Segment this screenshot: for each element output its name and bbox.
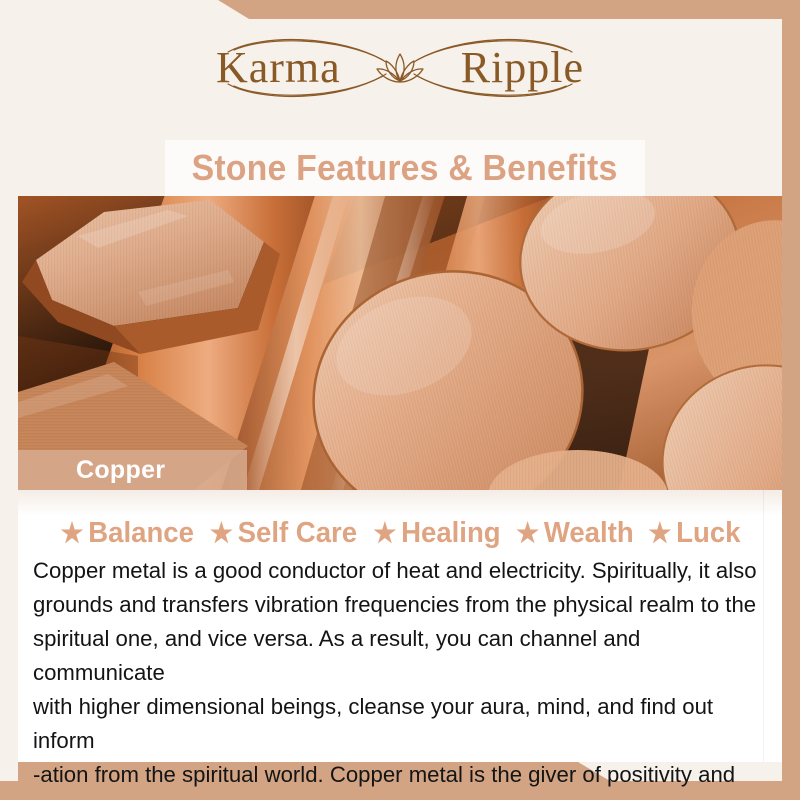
description-line: grounds and transfers vibration frequenc… xyxy=(33,588,762,622)
benefit-item-healing: ★Healing xyxy=(374,519,501,548)
page-title: Stone Features & Benefits xyxy=(192,147,618,189)
description-line: -ation from the spiritual world. Copper … xyxy=(33,758,762,800)
star-icon: ★ xyxy=(210,520,233,547)
description-line: spiritual one, and vice versa. As a resu… xyxy=(33,622,762,690)
copper-bars-image xyxy=(18,196,782,490)
benefit-item-balance: ★Balance xyxy=(60,519,193,548)
brand-name-left: Karma xyxy=(216,46,341,90)
star-icon: ★ xyxy=(60,520,83,547)
product-photo xyxy=(18,196,782,490)
description-line: with higher dimensional beings, cleanse … xyxy=(33,690,762,758)
description-line: Copper metal is a good conductor of heat… xyxy=(33,554,762,588)
star-icon: ★ xyxy=(516,520,539,547)
benefit-label: Luck xyxy=(676,519,740,548)
photo-caption-label: Copper xyxy=(76,456,165,485)
benefit-label: Healing xyxy=(401,519,501,548)
description-paragraph: Copper metal is a good conductor of heat… xyxy=(33,554,762,800)
benefit-label: Wealth xyxy=(544,519,634,548)
benefit-label: Balance xyxy=(88,519,194,548)
star-icon: ★ xyxy=(649,520,672,547)
photo-caption-chip: Copper xyxy=(18,450,247,490)
brand-name-right: Ripple xyxy=(461,46,584,90)
poster-canvas: Karma Ripple Stone Features & Benefits xyxy=(0,0,800,800)
benefit-item-wealth: ★Wealth xyxy=(516,519,634,548)
star-icon: ★ xyxy=(374,520,397,547)
content-area: ★Balance★Self Care★Healing★Wealth★Luck C… xyxy=(18,490,782,762)
benefit-item-self-care: ★Self Care xyxy=(210,519,357,548)
benefits-row: ★Balance★Self Care★Healing★Wealth★Luck xyxy=(18,512,782,554)
benefit-label: Self Care xyxy=(238,519,357,548)
lotus-icon xyxy=(371,48,429,90)
brand-logo: Karma Ripple xyxy=(0,24,800,112)
title-banner: Stone Features & Benefits xyxy=(165,140,645,196)
benefit-item-luck: ★Luck xyxy=(649,519,741,548)
